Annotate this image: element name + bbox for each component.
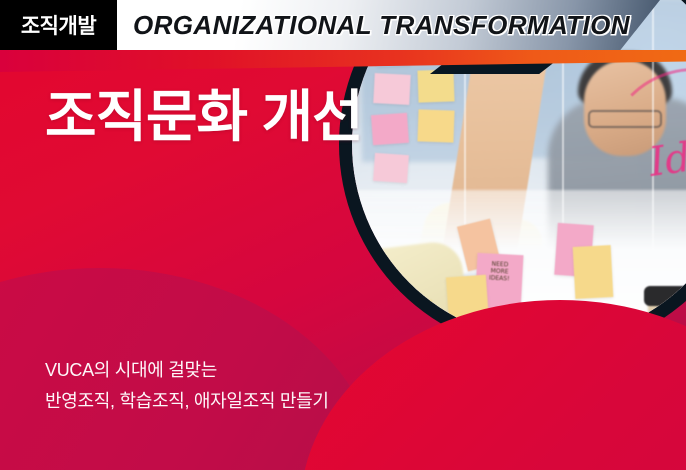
page-title: 조직문화 개선 [45,86,363,149]
category-badge: 조직개발 [0,0,117,50]
sticky-note [417,69,454,102]
sticky-note [573,245,614,299]
header-title: ORGANIZATIONAL TRANSFORMATION [133,0,630,50]
sticky-note [373,153,409,183]
slide-header: 조직개발 ORGANIZATIONAL TRANSFORMATION [0,0,686,50]
slide-subtitle: VUCA의 시대에 걸맞는 반영조직, 학습조직, 애자일조직 만들기 [45,355,329,417]
photo-cup-lid [644,286,686,306]
sticky-note [373,73,411,105]
sticky-note [417,109,454,142]
header-title-text: ORGANIZATIONAL TRANSFORMATION [133,10,630,41]
page-title-text: 조직문화 개선 [45,86,363,149]
presentation-slide: Idea NEEDMOREIDEAS! IDEA? [0,0,686,470]
subtitle-line-1: VUCA의 시대에 걸맞는 [45,355,329,386]
sticky-note [371,113,409,145]
subtitle-line-2: 반영조직, 학습조직, 애자일조직 만들기 [45,386,329,417]
category-badge-label: 조직개발 [21,10,96,40]
